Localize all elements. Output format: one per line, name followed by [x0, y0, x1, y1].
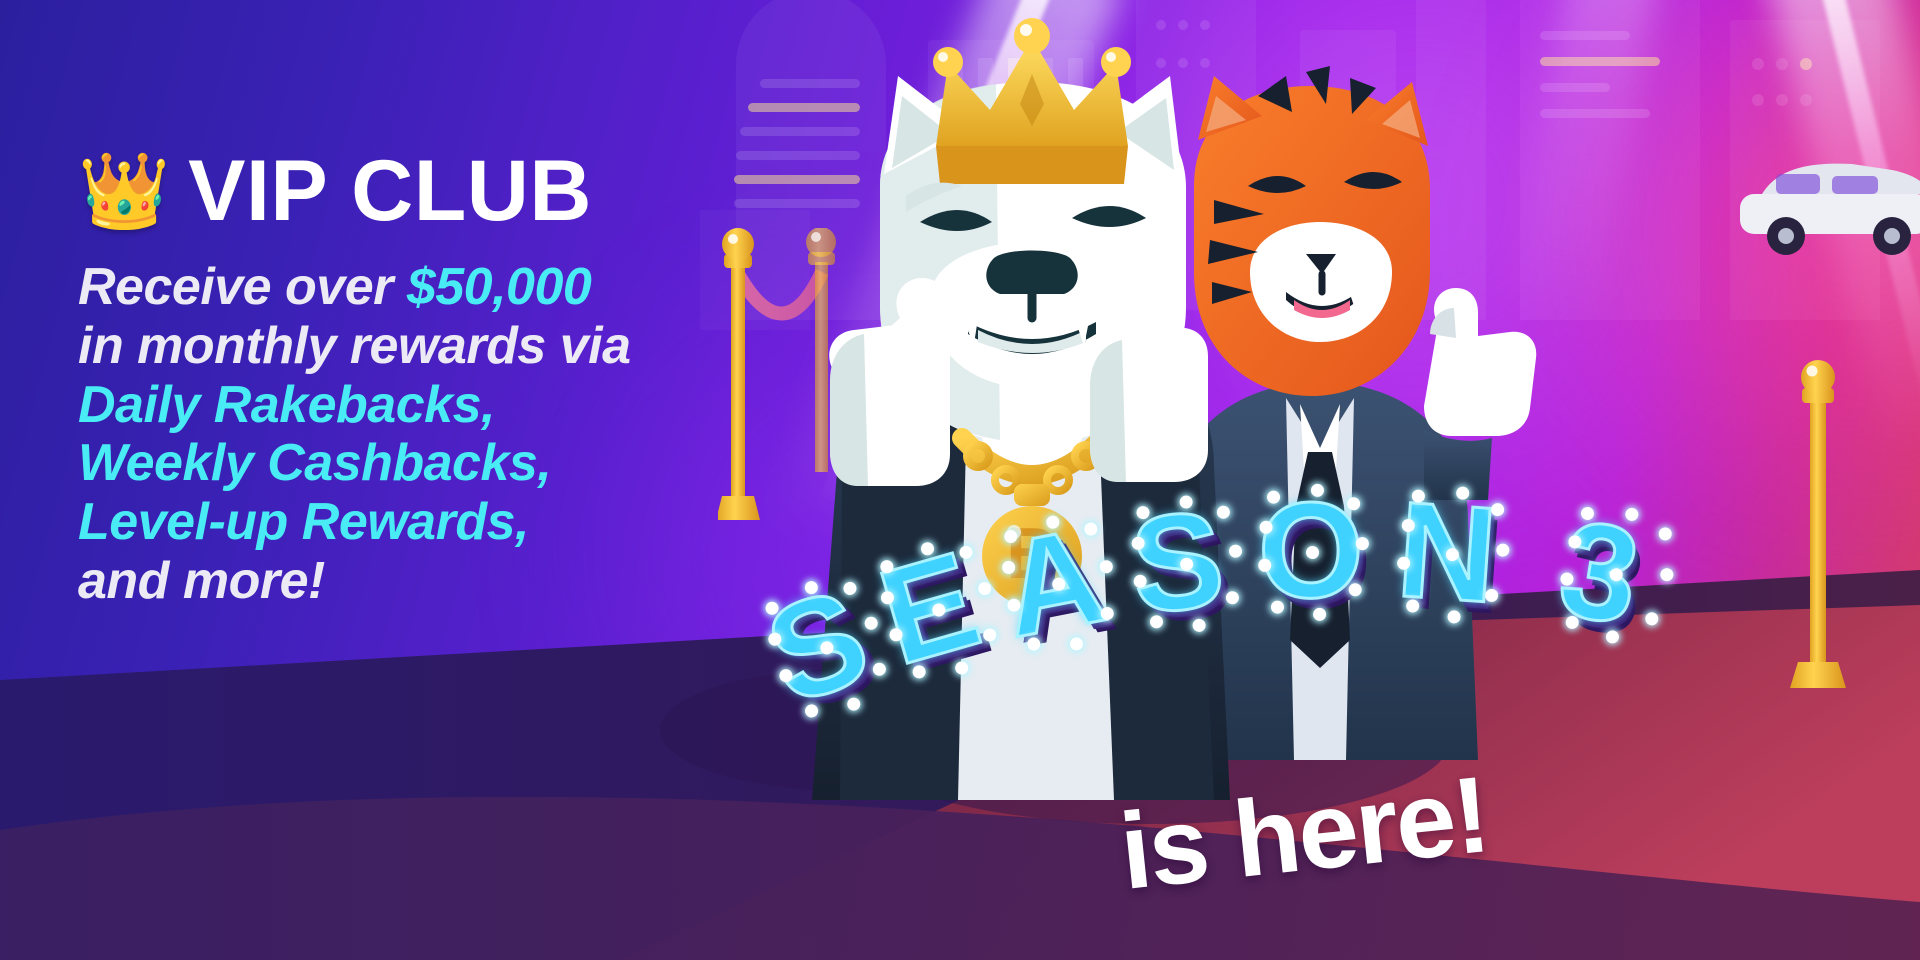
promo-copy-block: 👑 VIP CLUB Receive over $50,000in monthl…: [78, 148, 718, 611]
marquee-bulb: [1644, 611, 1659, 626]
marquee-letter-4: S: [1125, 490, 1229, 635]
promo-subtext-line-5: Level-up Rewards,: [78, 493, 718, 552]
marquee-letter-2: E: [867, 530, 992, 686]
promo-subtext: Receive over $50,000in monthly rewards v…: [78, 258, 718, 611]
marquee-bulb: [1496, 543, 1510, 557]
marquee-bulb: [1659, 567, 1674, 582]
page-title: VIP CLUB: [188, 148, 592, 234]
subtext-segment: Level-up Rewards,: [78, 493, 529, 551]
city-skyline: [700, 0, 1920, 470]
marquee-bulb: [977, 581, 993, 597]
subtext-segment: in monthly rewards via: [78, 317, 631, 375]
promo-subtext-line-3: Daily Rakebacks,: [78, 376, 718, 435]
marquee-bulb: [863, 615, 880, 632]
subtext-segment: and more!: [78, 552, 325, 610]
crown-emoji-icon: 👑: [78, 154, 170, 228]
marquee-letter-5: O: [1257, 481, 1365, 619]
marquee-letter-3: A: [992, 506, 1114, 658]
marquee-letter-1: S: [751, 567, 883, 726]
subtext-segment: Weekly Cashbacks,: [78, 434, 551, 492]
marquee-bulb: [1658, 526, 1673, 541]
subtext-segment: $50,000: [407, 258, 591, 316]
subtext-segment: Receive over: [78, 258, 407, 316]
promo-subtext-line-1: Receive over $50,000: [78, 258, 718, 317]
marquee-letter-6: N: [1393, 481, 1500, 624]
season-marquee-badge: SEASON3: [772, 470, 1782, 720]
marquee-letter-7: 3: [1552, 499, 1648, 645]
season-tagline: is here!: [1114, 751, 1493, 914]
marquee-bulb: [1228, 544, 1242, 558]
promo-subtext-line-6: and more!: [78, 552, 718, 611]
subtext-segment: Daily Rakebacks,: [78, 376, 495, 434]
headline-row: 👑 VIP CLUB: [78, 148, 718, 234]
promo-subtext-line-4: Weekly Cashbacks,: [78, 434, 718, 493]
promo-subtext-line-2: in monthly rewards via: [78, 317, 718, 376]
vip-club-promo-banner: B 👑 VIP CLUB Receive over $50,000in mont…: [0, 0, 1920, 960]
